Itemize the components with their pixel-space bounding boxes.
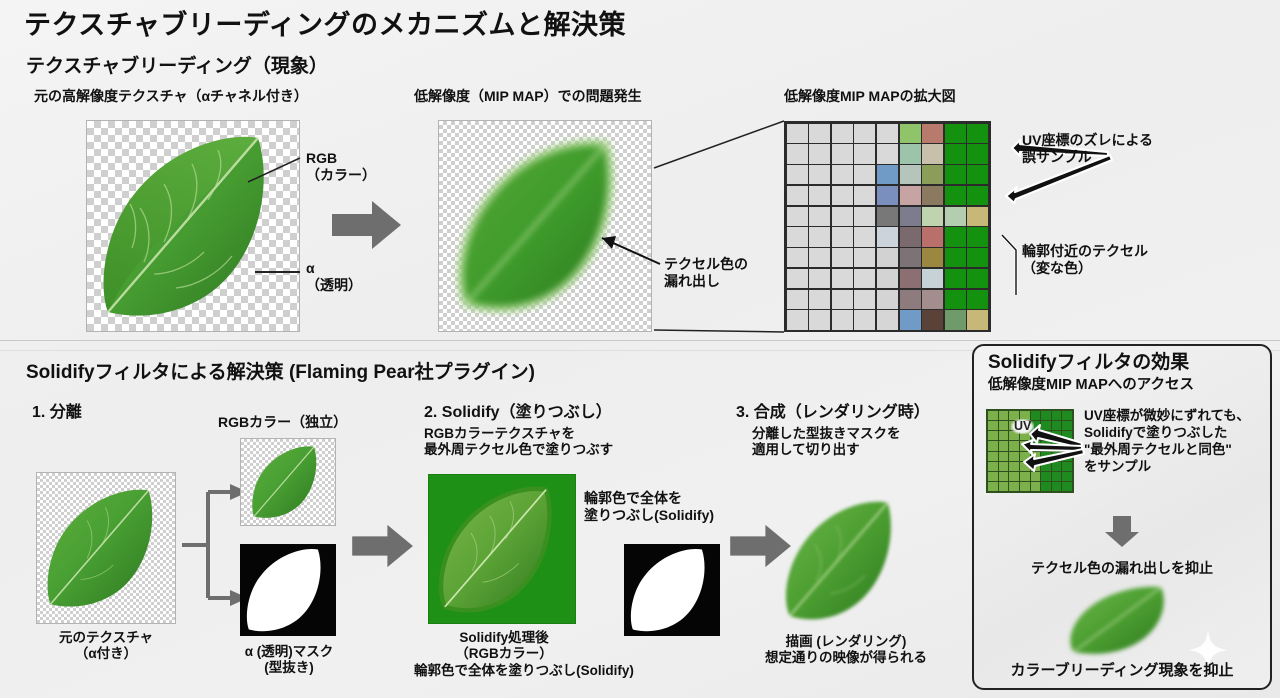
mini-texel-cell xyxy=(999,431,1009,440)
mini-texel-cell xyxy=(988,482,998,491)
texel-cell xyxy=(900,207,921,226)
leaf-image-mipmap-blurred xyxy=(444,126,646,326)
texel-cell xyxy=(922,290,943,309)
texel-cell xyxy=(945,144,966,163)
caption-solidify-result: Solidify処理後 （RGBカラー） 輪郭色で全体を塗りつぶし(Solidi… xyxy=(414,630,594,679)
mini-texel-cell xyxy=(1041,482,1051,491)
texel-cell xyxy=(967,186,988,205)
mini-texel-cell xyxy=(1031,452,1041,461)
texel-cell xyxy=(787,248,808,267)
mini-texel-cell xyxy=(1062,421,1072,430)
section-heading-solution: Solidifyフィルタによる解決策 (Flaming Pear社プラグイン) xyxy=(26,362,535,384)
section-divider xyxy=(0,340,1280,341)
texel-cell xyxy=(922,124,943,143)
texel-cell xyxy=(967,124,988,143)
texel-cell xyxy=(809,124,830,143)
leaf-image-rgb-only xyxy=(244,442,332,522)
mini-texel-cell xyxy=(999,482,1009,491)
texel-cell xyxy=(809,207,830,226)
texel-cell xyxy=(787,310,808,329)
step1-title: 1. 分離 xyxy=(32,404,82,423)
texel-cell xyxy=(832,248,853,267)
texel-cell xyxy=(854,227,875,246)
step3-body: 分離した型抜きマスクを 適用して切り出す xyxy=(752,426,901,458)
mini-texel-cell xyxy=(1052,431,1062,440)
caption-alpha-mask: α (透明)マスク (型抜き) xyxy=(228,644,350,676)
section-heading-phenomenon: テクスチャブリーディング（現象） xyxy=(26,56,328,78)
texel-cell xyxy=(945,248,966,267)
mini-texel-cell xyxy=(999,462,1009,471)
mini-texel-cell xyxy=(1020,441,1030,450)
texel-cell xyxy=(809,310,830,329)
mini-texel-cell xyxy=(988,421,998,430)
texel-cell xyxy=(967,248,988,267)
texel-cell xyxy=(877,207,898,226)
mini-texel-cell xyxy=(1041,472,1051,481)
label-alpha: α （透明） xyxy=(306,260,362,293)
texel-cell xyxy=(854,310,875,329)
texel-cell xyxy=(900,227,921,246)
arrow-right-downscale xyxy=(332,200,402,250)
texel-cell xyxy=(832,290,853,309)
leaf-image-effect-result xyxy=(1060,580,1186,660)
texel-cell xyxy=(945,165,966,184)
texel-cell xyxy=(922,144,943,163)
texel-cell xyxy=(967,144,988,163)
texel-cell xyxy=(809,248,830,267)
mini-texel-cell xyxy=(1009,472,1019,481)
effect-panel-middle-text: テクセル色の漏れ出しを抑止 xyxy=(972,560,1272,577)
mini-texel-cell xyxy=(1052,452,1062,461)
texel-cell xyxy=(787,227,808,246)
texel-cell xyxy=(787,124,808,143)
effect-panel-subtitle: 低解像度MIP MAPへのアクセス xyxy=(988,377,1194,394)
label-edge-texel: 輪郭付近のテクセル （変な色） xyxy=(1022,243,1148,276)
caption-original-texture: 元の高解像度テクスチャ（αチャネル付き） xyxy=(34,88,308,105)
texel-cell xyxy=(877,248,898,267)
texel-cell xyxy=(854,248,875,267)
texel-cell xyxy=(787,290,808,309)
mini-texel-cell xyxy=(1062,452,1072,461)
texel-cell xyxy=(945,124,966,143)
texel-cell xyxy=(787,144,808,163)
texel-cell xyxy=(787,186,808,205)
texel-cell xyxy=(922,310,943,329)
texel-cell xyxy=(832,144,853,163)
texel-cell xyxy=(787,207,808,226)
mini-texel-cell xyxy=(999,411,1009,420)
texel-cell xyxy=(922,207,943,226)
alpha-mask-panel xyxy=(240,544,336,636)
texel-cell xyxy=(787,165,808,184)
mini-texel-cell xyxy=(1062,441,1072,450)
texel-cell xyxy=(832,165,853,184)
mini-texel-cell xyxy=(1052,441,1062,450)
arrow-right-to-solidify xyxy=(352,524,414,568)
alpha-mask-panel-2 xyxy=(624,544,720,636)
leaf-image-final-render xyxy=(772,490,918,630)
texel-cell xyxy=(877,269,898,288)
mini-texel-cell xyxy=(1041,462,1051,471)
texel-cell xyxy=(809,227,830,246)
texel-cell xyxy=(900,124,921,143)
effect-panel-bottom-text: カラーブリーディング現象を抑止 xyxy=(972,662,1272,680)
caption-mipmap-problem: 低解像度（MIP MAP）での問題発生 xyxy=(414,88,642,105)
mini-texel-cell xyxy=(1041,421,1051,430)
mini-texel-cell xyxy=(1031,431,1041,440)
texel-cell xyxy=(809,186,830,205)
mini-texel-cell xyxy=(1041,411,1051,420)
mini-texel-cell xyxy=(1020,482,1030,491)
caption-final-render: 描画 (レンダリング) 想定通りの映像が得られる xyxy=(756,634,936,666)
texel-cell xyxy=(877,144,898,163)
texel-cell xyxy=(854,124,875,143)
texel-cell xyxy=(809,165,830,184)
texel-cell xyxy=(967,227,988,246)
texel-cell xyxy=(832,227,853,246)
mini-texel-cell xyxy=(1062,472,1072,481)
mini-texel-cell xyxy=(1020,452,1030,461)
texel-cell xyxy=(877,290,898,309)
caption-rgb-color: RGBカラー（独立） xyxy=(218,414,347,431)
texel-cell xyxy=(832,207,853,226)
step3-title: 3. 合成（レンダリング時） xyxy=(736,404,930,423)
label-texel-bleed: テクセル色の 漏れ出し xyxy=(664,256,748,289)
texel-cell xyxy=(922,269,943,288)
arrow-down-effect xyxy=(1104,516,1140,548)
mini-texel-cell xyxy=(1052,462,1062,471)
mini-texel-cell xyxy=(1031,462,1041,471)
mini-texel-cell xyxy=(1062,482,1072,491)
texel-cell xyxy=(809,290,830,309)
texel-cell xyxy=(945,269,966,288)
mini-texel-cell xyxy=(1031,482,1041,491)
mini-texel-cell xyxy=(1062,462,1072,471)
mini-texel-cell xyxy=(1020,462,1030,471)
texel-cell xyxy=(945,310,966,329)
texel-cell xyxy=(900,269,921,288)
leaf-image-source xyxy=(40,476,172,620)
label-rgb: RGB （カラー） xyxy=(306,150,376,183)
mini-texel-cell xyxy=(1009,482,1019,491)
texel-cell xyxy=(900,144,921,163)
mini-texel-cell xyxy=(988,441,998,450)
mini-texel-cell xyxy=(1009,441,1019,450)
mini-texel-cell xyxy=(999,421,1009,430)
mini-texel-cell xyxy=(1041,441,1051,450)
mini-texel-cell xyxy=(1009,452,1019,461)
texel-cell xyxy=(945,227,966,246)
step2-title: 2. Solidify（塗りつぶし） xyxy=(424,404,612,423)
texel-cell xyxy=(832,269,853,288)
texel-cell xyxy=(854,269,875,288)
mini-texel-cell xyxy=(1052,411,1062,420)
texel-cell xyxy=(945,290,966,309)
mini-texel-cell xyxy=(988,462,998,471)
mini-texel-cell xyxy=(1052,472,1062,481)
texel-cell xyxy=(877,310,898,329)
texel-cell xyxy=(922,186,943,205)
mini-texel-cell xyxy=(1041,452,1051,461)
texel-cell xyxy=(945,207,966,226)
mini-texel-cell xyxy=(988,431,998,440)
leaf-image-highres xyxy=(92,126,294,326)
texel-cell xyxy=(900,310,921,329)
texel-cell xyxy=(877,227,898,246)
mini-texel-cell xyxy=(1062,411,1072,420)
texel-cell xyxy=(877,186,898,205)
mini-texel-cell xyxy=(1031,411,1041,420)
effect-panel-note: UV座標が微妙にずれても、 Solidifyで塗りつぶした "最外周テクセルと同… xyxy=(1084,408,1250,476)
mini-texel-cell xyxy=(988,472,998,481)
mini-texel-cell xyxy=(999,452,1009,461)
texel-cell xyxy=(900,186,921,205)
note-solidify-sidenote: 輪郭色で全体を 塗りつぶし(Solidify) xyxy=(584,490,714,523)
texel-cell xyxy=(967,290,988,309)
caption-mipmap-zoom: 低解像度MIP MAPの拡大図 xyxy=(784,88,956,105)
mini-texel-cell xyxy=(1052,482,1062,491)
texel-cell xyxy=(922,248,943,267)
label-uv-missample: UV座標のズレによる 誤サンプル xyxy=(1022,132,1153,165)
mini-texel-cell xyxy=(988,452,998,461)
mini-texel-cell xyxy=(1062,431,1072,440)
texel-cell xyxy=(832,124,853,143)
mini-texel-cell xyxy=(1031,441,1041,450)
texel-cell xyxy=(877,124,898,143)
texel-cell xyxy=(967,207,988,226)
mini-texel-cell xyxy=(999,472,1009,481)
texel-cell xyxy=(854,290,875,309)
texel-cell xyxy=(832,310,853,329)
mini-texel-cell xyxy=(1052,421,1062,430)
texel-cell xyxy=(854,186,875,205)
texel-cell xyxy=(922,227,943,246)
texel-cell xyxy=(877,165,898,184)
texel-grid xyxy=(784,121,991,332)
texel-cell xyxy=(809,144,830,163)
texel-cell xyxy=(900,248,921,267)
mini-texel-cell xyxy=(988,411,998,420)
mini-texel-cell xyxy=(1031,472,1041,481)
texel-cell xyxy=(900,290,921,309)
caption-source-texture: 元のテクスチャ （α付き） xyxy=(16,630,196,662)
texel-cell xyxy=(945,186,966,205)
texel-cell xyxy=(787,269,808,288)
texel-cell xyxy=(967,310,988,329)
step2-body: RGBカラーテクスチャを 最外周テクセル色で塗りつぶす xyxy=(424,426,613,458)
texel-cell xyxy=(967,165,988,184)
mini-texel-cell xyxy=(999,441,1009,450)
texel-cell xyxy=(967,269,988,288)
texel-cell xyxy=(922,165,943,184)
texel-cell xyxy=(854,207,875,226)
texel-cell xyxy=(854,144,875,163)
texel-cell xyxy=(900,165,921,184)
texel-cell xyxy=(809,269,830,288)
uv-label: UV xyxy=(1011,419,1034,434)
texel-cell xyxy=(832,186,853,205)
page-title: テクスチャブリーディングのメカニズムと解決策 xyxy=(24,10,626,42)
effect-panel-title: Solidifyフィルタの効果 xyxy=(988,352,1189,374)
solidify-result-panel xyxy=(428,474,576,624)
texel-cell xyxy=(854,165,875,184)
mini-texel-cell xyxy=(1009,462,1019,471)
mini-texel-cell xyxy=(1041,431,1051,440)
mini-texel-cell xyxy=(1020,472,1030,481)
